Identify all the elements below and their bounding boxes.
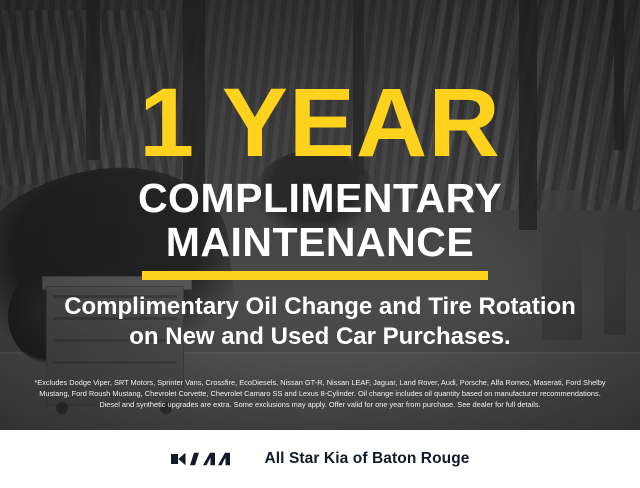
disclaimer-line-2: Mustang, Ford Roush Mustang, Chevrolet C… [14,388,626,399]
kia-logo-icon [170,448,246,470]
banner-content: 1 YEAR COMPLIMENTARY MAINTENANCE Complim… [0,0,640,488]
headline-primary: 1 YEAR [0,74,640,171]
promotional-banner: 1 YEAR COMPLIMENTARY MAINTENANCE Complim… [0,0,640,488]
offer-line-1: Complimentary Oil Change and Tire Rotati… [14,292,626,322]
yellow-divider-bar [142,271,488,280]
offer-line-2: on New and Used Car Purchases. [14,322,626,352]
dealer-name: All Star Kia of Baton Rouge [264,450,469,468]
headline-secondary-line2: MAINTENANCE [0,222,640,263]
headline-secondary-line1: COMPLIMENTARY [0,178,640,219]
disclaimer-line-1: *Excludes Dodge Viper, SRT Motors, Sprin… [14,377,626,388]
disclaimer-line-3: Diesel and synthetic upgrades are extra.… [14,399,626,410]
disclaimer-text: *Excludes Dodge Viper, SRT Motors, Sprin… [14,377,626,411]
dealer-footer-bar: All Star Kia of Baton Rouge [0,430,640,488]
offer-description: Complimentary Oil Change and Tire Rotati… [14,292,626,352]
